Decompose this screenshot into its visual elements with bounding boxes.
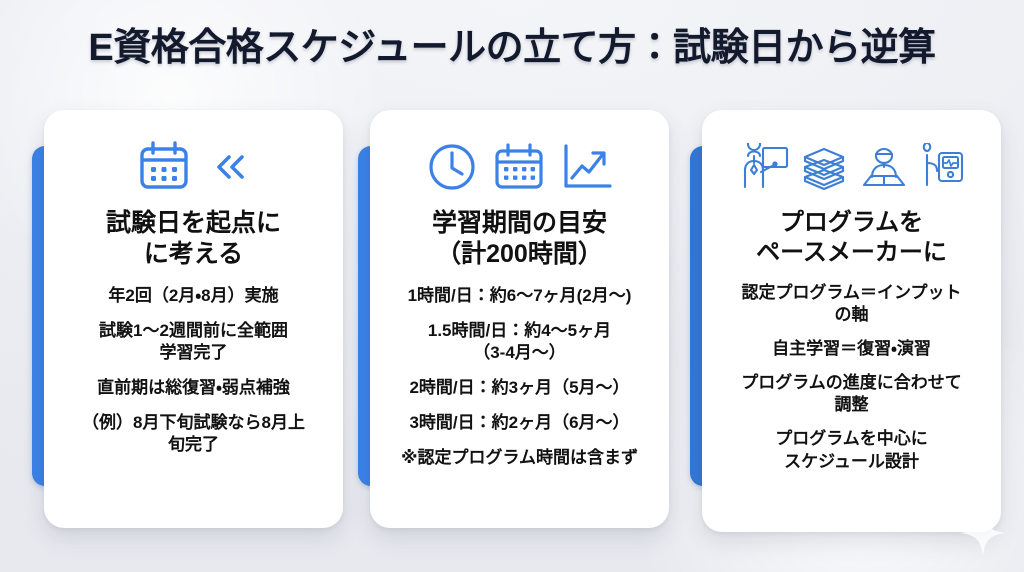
list-item-note: ※認定プログラム時間は含まず bbox=[384, 447, 655, 469]
list-item: 年2回（2月・8月）実施 bbox=[58, 285, 329, 307]
card-heading: 試験日を起点に に考える bbox=[106, 208, 281, 271]
student-studying-icon bbox=[858, 143, 910, 191]
list-item: 認定プログラム＝インプット の軸 bbox=[716, 282, 987, 326]
card-body: プログラムを ペースメーカーに 認定プログラム＝インプット の軸 自主学習＝復習… bbox=[702, 110, 1001, 532]
calendar-icon bbox=[492, 141, 546, 193]
card-heading: 学習期間の目安 （計200時間） bbox=[432, 208, 607, 271]
list-item: （例）8月下旬試験なら8月上 旬完了 bbox=[58, 412, 329, 456]
list-item: 試験1〜2週間前に全範囲 学習完了 bbox=[58, 320, 329, 364]
card-icon-row bbox=[426, 136, 614, 198]
slide-canvas: E資格合格スケジュールの立て方：試験日から逆算 bbox=[0, 0, 1024, 572]
card-exam-date: 試験日を起点に に考える 年2回（2月・8月）実施 試験1〜2週間前に全範囲 学… bbox=[32, 110, 343, 530]
card-icon-row bbox=[738, 136, 965, 198]
list-item: 自主学習＝復習・演習 bbox=[716, 338, 987, 360]
card-program-pacemaker: プログラムを ペースメーカーに 認定プログラム＝インプット の軸 自主学習＝復習… bbox=[690, 110, 1001, 534]
card-heading: プログラムを ペースメーカーに bbox=[756, 208, 947, 268]
card-study-period: 学習期間の目安 （計200時間） 1時間/日：約6〜7ヶ月(2月〜) 1.5時間… bbox=[358, 110, 669, 530]
list-item: プログラムの進度に合わせて 調整 bbox=[716, 372, 987, 416]
trending-up-chart-icon bbox=[560, 141, 614, 193]
list-item: 2時間/日：約3ヶ月（5月〜） bbox=[384, 377, 655, 399]
calendar-icon bbox=[138, 140, 196, 194]
card-row: 試験日を起点に に考える 年2回（2月・8月）実施 試験1〜2週間前に全範囲 学… bbox=[0, 110, 1024, 540]
page-title: E資格合格スケジュールの立て方：試験日から逆算 bbox=[0, 16, 1024, 71]
list-item: 1.5時間/日：約4〜5ヶ月 （3-4月〜） bbox=[384, 320, 655, 364]
card-item-list: 認定プログラム＝インプット の軸 自主学習＝復習・演習 プログラムの進度に合わせ… bbox=[716, 282, 987, 473]
card-icon-row bbox=[138, 136, 250, 198]
card-body: 試験日を起点に に考える 年2回（2月・8月）実施 試験1〜2週間前に全範囲 学… bbox=[44, 110, 343, 528]
list-item: 直前期は総復習・弱点補強 bbox=[58, 377, 329, 399]
chevron-double-left-icon bbox=[210, 147, 250, 187]
book-stack-icon bbox=[799, 143, 849, 191]
list-item: 3時間/日：約2ヶ月（6月〜） bbox=[384, 412, 655, 434]
list-item: 1時間/日：約6〜7ヶ月(2月〜) bbox=[384, 285, 655, 307]
clock-icon bbox=[426, 141, 478, 193]
card-item-list: 1時間/日：約6〜7ヶ月(2月〜) 1.5時間/日：約4〜5ヶ月 （3-4月〜）… bbox=[384, 285, 655, 470]
card-body: 学習期間の目安 （計200時間） 1時間/日：約6〜7ヶ月(2月〜) 1.5時間… bbox=[370, 110, 669, 528]
card-item-list: 年2回（2月・8月）実施 試験1〜2週間前に全範囲 学習完了 直前期は総復習・弱… bbox=[58, 285, 329, 457]
instructor-whiteboard-icon bbox=[738, 143, 790, 191]
list-item: プログラムを中心に スケジュール設計 bbox=[716, 428, 987, 472]
vital-monitor-icon bbox=[919, 143, 965, 191]
